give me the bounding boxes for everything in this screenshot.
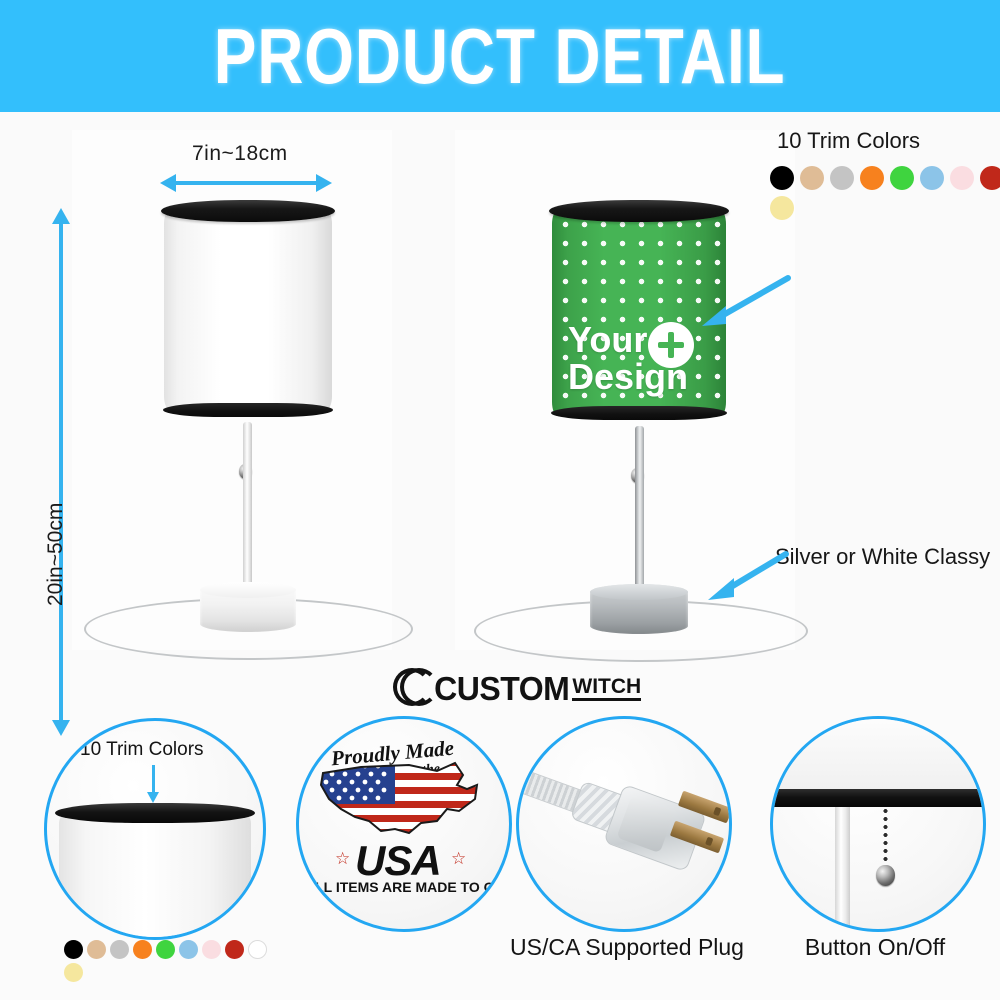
usa-map-flag-icon (317, 759, 489, 841)
feature-button-caption: Button On/Off (760, 934, 990, 961)
trim-colors-swatch-group-top (770, 166, 1000, 220)
lampshade-surface (164, 210, 332, 410)
trim-swatch-pink[interactable] (950, 166, 974, 190)
brand-name-main: CUSTOM (434, 673, 569, 704)
trim-colors-swatch-group-bottom (64, 940, 271, 982)
feature-made-in-usa: Proudly Made in the (296, 716, 512, 932)
arrow-shaft (174, 181, 318, 185)
width-dimension-label: 7in~18cm (192, 142, 288, 166)
trim-swatch-white[interactable] (248, 940, 267, 959)
trim-swatch-red[interactable] (225, 940, 244, 959)
lamp-pole-white (243, 422, 252, 602)
trim-swatch-grey[interactable] (830, 166, 854, 190)
feature-plug-caption: US/CA Supported Plug (502, 934, 752, 961)
feature-trim-inner-label: 10 Trim Colors (80, 739, 204, 761)
lampshade-top-trim (549, 200, 729, 222)
lamp-base-top (590, 584, 688, 600)
feature-plug: US/CA Supported Plug (516, 716, 744, 966)
trim-swatch-orange[interactable] (860, 166, 884, 190)
plug-body-highlight (616, 796, 674, 853)
trim-swatch-red[interactable] (980, 166, 1000, 190)
feature-circle-button (770, 716, 986, 932)
base-finish-pointer-arrow (700, 546, 792, 606)
header-banner: PRODUCT DETAIL (0, 0, 1000, 112)
plug-prong-hole (705, 837, 713, 847)
lamp-base-top (200, 582, 296, 598)
usa-badge: Proudly Made in the (299, 719, 509, 929)
usa-word: USA (355, 837, 441, 885)
feature-circle-plug (516, 716, 732, 932)
trim-swatch-pink[interactable] (202, 940, 221, 959)
trim-swatch-yellow[interactable] (64, 963, 83, 982)
product-detail-page: PRODUCT DETAIL 7in~18cm 20in~50cm (0, 0, 1000, 1000)
feature-button-onoff: Button On/Off (770, 716, 990, 966)
height-dimension-arrow (52, 208, 70, 736)
design-line-2: Design (568, 359, 726, 396)
base-finish-callout-label: Silver or White Classy (775, 544, 990, 570)
trim-swatch-light-blue[interactable] (179, 940, 198, 959)
trim-swatch-grey[interactable] (110, 940, 129, 959)
trim-swatch-green[interactable] (156, 940, 175, 959)
page-title: PRODUCT DETAIL (214, 11, 786, 102)
lamp-base-silver (590, 584, 688, 634)
star-left-icon: ☆ (335, 849, 350, 869)
trim-swatch-light-blue[interactable] (920, 166, 944, 190)
feature-circle-usa: Proudly Made in the (296, 716, 512, 932)
lampshade-top-trim (161, 200, 335, 222)
plug-prong-hole (713, 807, 721, 817)
trim-swatch-tan[interactable] (87, 940, 106, 959)
trim-colors-pointer-arrow (688, 272, 794, 334)
trim-swatch-black[interactable] (64, 940, 83, 959)
brand-name-sub: WITCH (572, 676, 641, 701)
shade-closeup-body (59, 813, 251, 937)
lampshade-white (164, 200, 332, 425)
shade-bottom-closeup (770, 716, 986, 791)
trim-swatch-black[interactable] (770, 166, 794, 190)
trim-swatch-orange[interactable] (133, 940, 152, 959)
lamp-pole-closeup (835, 807, 850, 931)
feature-trim-colors: 10 Trim Colors (44, 718, 266, 968)
pull-chain-ball-closeup[interactable] (876, 865, 895, 886)
pull-chain-closeup[interactable] (883, 807, 888, 869)
main-product-area: 7in~18cm 20in~50cm (0, 112, 1000, 660)
lamp-white (160, 200, 335, 660)
trim-swatch-green[interactable] (890, 166, 914, 190)
feature-circle-trim: 10 Trim Colors (44, 718, 266, 940)
logo-c-icon (393, 666, 431, 704)
usa-line-bottom: ALL ITEMS ARE MADE TO ORDER! (305, 879, 512, 895)
lamp-pole-silver (635, 426, 644, 606)
brand-logo: CUSTOM WITCH (393, 666, 641, 704)
star-right-icon: ☆ (451, 849, 466, 869)
lampshade-bottom-trim (163, 403, 333, 417)
arrow-head-right-icon (316, 174, 332, 192)
trim-down-arrow-icon (152, 765, 155, 793)
lamp-base-white (200, 582, 296, 632)
width-dimension-arrow (160, 174, 332, 192)
lampshade-bottom-trim (551, 406, 727, 420)
shade-closeup-trim (55, 803, 255, 823)
height-dimension-label: 20in~50cm (44, 503, 68, 606)
arrow-shaft (59, 222, 63, 722)
trim-swatch-yellow[interactable] (770, 196, 794, 220)
trim-swatch-tan[interactable] (800, 166, 824, 190)
trim-colors-callout-label: 10 Trim Colors (777, 128, 920, 154)
trim-bar-closeup (770, 789, 986, 807)
